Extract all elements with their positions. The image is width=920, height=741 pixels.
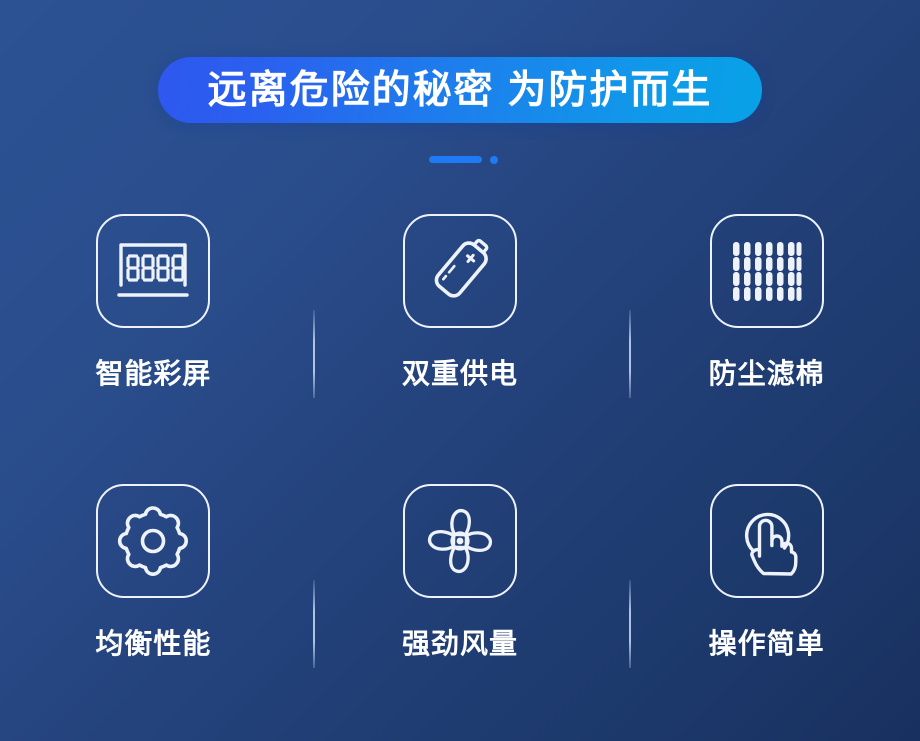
feature-row: 均衡性能 (0, 470, 920, 740)
icon-frame (403, 214, 517, 328)
feature-label: 双重供电 (402, 360, 518, 388)
battery-icon (423, 234, 497, 308)
feature-label: 均衡性能 (95, 630, 211, 658)
feature-label: 强劲风量 (402, 630, 518, 658)
feature-item-smart-screen[interactable]: 智能彩屏 (0, 200, 307, 470)
icon-frame (710, 484, 824, 598)
feature-row: 智能彩屏 (0, 200, 920, 470)
fan-icon (423, 504, 497, 578)
icon-frame (96, 214, 210, 328)
accent-dot (490, 156, 498, 164)
touch-hand-icon (732, 504, 802, 578)
feature-label: 操作简单 (709, 630, 825, 658)
feature-item-easy-operation[interactable]: 操作简单 (613, 470, 920, 740)
accent-bar (429, 156, 482, 163)
feature-label: 防尘滤棉 (709, 360, 825, 388)
title-banner: 远离危险的秘密 为防护而生 (158, 57, 762, 123)
gear-icon (116, 504, 190, 578)
feature-item-balanced-performance[interactable]: 均衡性能 (0, 470, 307, 740)
feature-item-strong-airflow[interactable]: 强劲风量 (307, 470, 614, 740)
filter-mesh-icon (731, 240, 803, 302)
feature-label: 智能彩屏 (95, 360, 211, 388)
icon-frame (403, 484, 517, 598)
feature-item-dust-filter[interactable]: 防尘滤棉 (613, 200, 920, 470)
title-accent-decoration (429, 156, 499, 164)
feature-grid: 智能彩屏 (0, 200, 920, 740)
page-title: 远离危险的秘密 为防护而生 (208, 71, 713, 110)
icon-frame (96, 484, 210, 598)
icon-frame (710, 214, 824, 328)
promo-page: 远离危险的秘密 为防护而生 (0, 0, 920, 741)
digital-display-icon (116, 239, 190, 303)
feature-item-dual-power[interactable]: 双重供电 (307, 200, 614, 470)
